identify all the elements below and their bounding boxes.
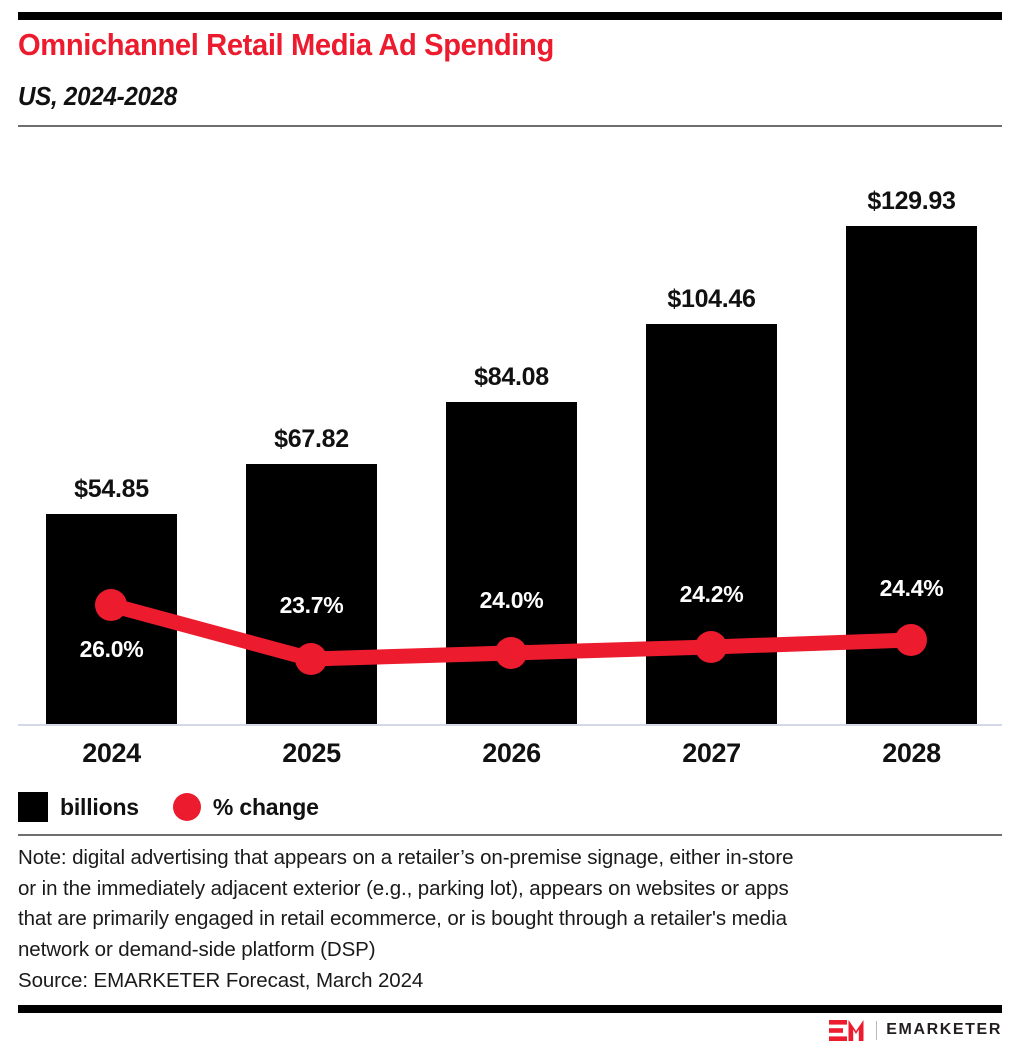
red-circle-icon (173, 793, 201, 821)
x-axis-tick-2027: 2027 (646, 738, 777, 769)
black-square-icon (18, 792, 48, 822)
percent-label-2028: 24.4% (846, 575, 977, 602)
note-line-3: that are primarily engaged in retail eco… (18, 904, 958, 935)
top-divider-rule (18, 12, 1002, 20)
chart-note: Note: digital advertising that appears o… (18, 843, 958, 965)
line-marker-2026[interactable] (495, 637, 527, 669)
legend-item-percent-change[interactable]: % change (173, 793, 319, 821)
x-axis-tick-2028: 2028 (846, 738, 977, 769)
chart-page: Omnichannel Retail Media Ad Spending US,… (0, 0, 1020, 1048)
legend-label-billions: billions (60, 794, 139, 821)
bottom-divider-rule (18, 1005, 1002, 1013)
note-line-4: network or demand-side platform (DSP) (18, 935, 958, 966)
x-axis-tick-2025: 2025 (246, 738, 377, 769)
percent-label-2025: 23.7% (246, 592, 377, 619)
page-title: Omnichannel Retail Media Ad Spending (18, 27, 920, 63)
line-marker-2028[interactable] (895, 624, 927, 656)
percent-label-2027: 24.2% (646, 581, 777, 608)
line-marker-2024[interactable] (95, 589, 127, 621)
x-axis-tick-2026: 2026 (446, 738, 577, 769)
line-marker-2027[interactable] (695, 631, 727, 663)
chart-plot-area: $54.85 $67.82 $84.08 $104.46 $129.93 26.… (0, 140, 1020, 780)
percent-label-2026: 24.0% (446, 587, 577, 614)
legend-divider-rule (18, 834, 1002, 836)
note-line-1: Note: digital advertising that appears o… (18, 843, 958, 874)
chart-source: Source: EMARKETER Forecast, March 2024 (18, 966, 423, 996)
page-subtitle: US, 2024-2028 (18, 80, 911, 112)
brand-divider (876, 1021, 877, 1040)
line-marker-2025[interactable] (295, 643, 327, 675)
chart-legend: billions % change (18, 792, 319, 822)
percent-change-line-series (0, 140, 1020, 780)
brand-wordmark: EMARKETER (886, 1021, 1002, 1039)
em-logo-icon (829, 1020, 867, 1041)
x-axis-tick-2024: 2024 (46, 738, 177, 769)
percent-label-2024: 26.0% (46, 636, 177, 663)
legend-item-billions[interactable]: billions (18, 792, 139, 822)
header-divider-rule (18, 125, 1002, 127)
emarketer-brand-lockup: EMARKETER (829, 1018, 1002, 1042)
legend-label-percent-change: % change (213, 794, 319, 821)
note-line-2: or in the immediately adjacent exterior … (18, 874, 958, 905)
